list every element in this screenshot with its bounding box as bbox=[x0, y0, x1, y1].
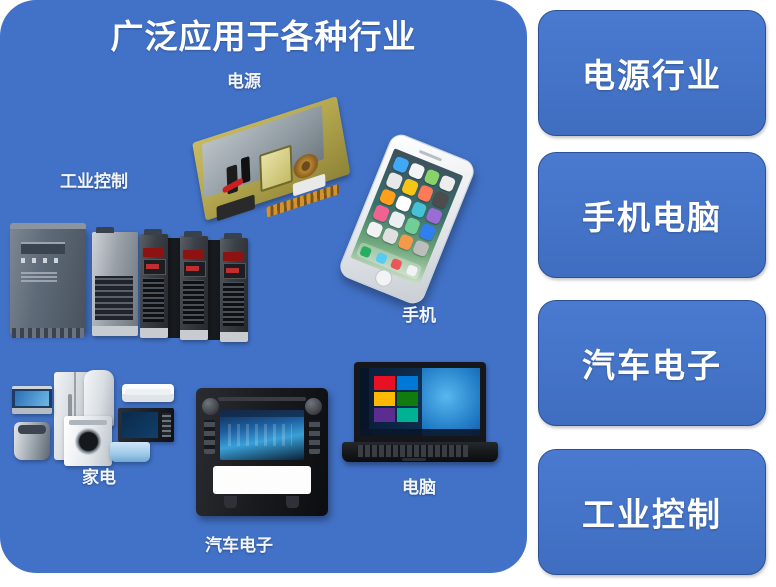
head-unit-knob-left bbox=[202, 398, 219, 415]
tile bbox=[397, 392, 418, 406]
pcb-black-component bbox=[216, 194, 255, 221]
app-icon bbox=[403, 217, 421, 236]
app-icon bbox=[432, 191, 450, 210]
head-unit-front-panel bbox=[213, 466, 311, 494]
drive-vent bbox=[95, 276, 133, 320]
cabinet-top bbox=[10, 223, 86, 229]
home-appliances-image bbox=[6, 368, 176, 468]
dock-icon bbox=[390, 257, 403, 270]
microwave-oven-icon bbox=[118, 408, 174, 442]
rice-cooker-icon bbox=[14, 422, 50, 460]
drive-base bbox=[180, 330, 208, 340]
category-card-power-industry[interactable]: 电源行业 bbox=[538, 10, 766, 136]
app-icon bbox=[407, 162, 425, 180]
app-icon bbox=[397, 233, 415, 251]
head-unit-buttons-right bbox=[309, 420, 320, 454]
drive-red-band bbox=[223, 252, 244, 261]
caption-power: 电源 bbox=[227, 72, 261, 92]
drive-base bbox=[140, 328, 168, 338]
small-laptop-icon bbox=[12, 386, 52, 414]
cabinet-terminal-block bbox=[12, 328, 84, 338]
drive-red-band bbox=[143, 248, 164, 257]
phone-screen bbox=[350, 148, 463, 285]
tile bbox=[374, 408, 395, 422]
drive-top-connector bbox=[144, 229, 162, 235]
head-unit-bracket bbox=[224, 496, 237, 508]
laptop-touchpad bbox=[402, 458, 426, 461]
caption-industrial: 工业控制 bbox=[60, 172, 128, 192]
app-icon bbox=[416, 184, 434, 203]
dock-icon bbox=[405, 264, 418, 277]
phone-app-grid bbox=[366, 156, 457, 258]
power-supply-pcb-image bbox=[181, 78, 370, 242]
app-icon bbox=[412, 239, 430, 257]
app-icon bbox=[379, 188, 397, 206]
app-icon bbox=[394, 194, 412, 212]
induction-cooktop-icon bbox=[110, 442, 150, 462]
drive-display bbox=[143, 259, 166, 275]
start-menu-tiles bbox=[374, 376, 418, 422]
drive-top-connector bbox=[224, 233, 242, 239]
servo-drive bbox=[92, 232, 138, 336]
servo-drive bbox=[180, 236, 208, 340]
laptop-computer-image bbox=[340, 362, 500, 470]
drive-gap bbox=[208, 240, 220, 340]
tile bbox=[397, 408, 418, 422]
head-unit-buttons-left bbox=[204, 420, 215, 454]
caption-phone: 手机 bbox=[402, 306, 436, 326]
app-icon bbox=[388, 210, 406, 229]
servo-drive bbox=[140, 234, 168, 338]
drive-gap bbox=[168, 238, 180, 338]
control-cabinet bbox=[10, 228, 86, 334]
laptop-lid bbox=[354, 362, 486, 444]
drive-base bbox=[92, 326, 138, 336]
pcb-board bbox=[192, 96, 350, 221]
head-unit-knob-right bbox=[305, 398, 322, 415]
windows-start-menu bbox=[360, 368, 422, 436]
drive-red-band bbox=[183, 250, 204, 259]
app-icon bbox=[401, 178, 419, 197]
drive-vent bbox=[223, 282, 244, 326]
caption-automotive: 汽车电子 bbox=[205, 536, 273, 556]
car-audio-head-unit-image bbox=[196, 388, 328, 516]
tile bbox=[397, 376, 418, 390]
app-icon bbox=[425, 207, 443, 225]
windows-taskbar bbox=[360, 429, 480, 436]
category-card-phone-computer[interactable]: 手机电脑 bbox=[538, 152, 766, 278]
app-icon bbox=[385, 172, 403, 191]
dock-icon bbox=[360, 245, 373, 258]
cabinet-display bbox=[21, 242, 65, 254]
start-menu-rail bbox=[360, 368, 369, 436]
drive-vent bbox=[183, 280, 204, 324]
caption-computer: 电脑 bbox=[402, 478, 436, 498]
servo-drive bbox=[220, 238, 248, 342]
app-icon bbox=[392, 156, 410, 174]
app-icon bbox=[381, 226, 399, 244]
laptop-base bbox=[342, 442, 498, 462]
page-title: 广泛应用于各种行业 bbox=[0, 16, 527, 58]
drive-top-connector bbox=[96, 227, 114, 233]
app-icon bbox=[438, 174, 456, 192]
cabinet-indicator-leds bbox=[21, 258, 65, 263]
dock-icon bbox=[375, 251, 388, 264]
app-icon bbox=[366, 220, 384, 238]
laptop-keyboard bbox=[358, 445, 468, 457]
caption-home-appliance: 家电 bbox=[82, 468, 116, 488]
drive-display bbox=[183, 261, 206, 277]
air-conditioner-icon bbox=[122, 384, 174, 402]
laptop-screen bbox=[360, 368, 480, 436]
applications-hero-panel: 广泛应用于各种行业 电源 bbox=[0, 0, 527, 573]
category-card-industrial-control[interactable]: 工业控制 bbox=[538, 449, 766, 575]
app-icon bbox=[410, 200, 428, 218]
app-icon bbox=[423, 168, 441, 186]
drive-vent bbox=[143, 278, 164, 322]
washing-machine-icon bbox=[64, 416, 112, 466]
tile bbox=[374, 376, 395, 390]
category-card-automotive-electronics[interactable]: 汽车电子 bbox=[538, 300, 766, 426]
head-unit-screen bbox=[220, 410, 304, 460]
drive-display bbox=[223, 263, 246, 279]
poster-canvas: 广泛应用于各种行业 电源 bbox=[0, 0, 776, 587]
head-unit-bracket bbox=[286, 496, 299, 508]
drive-top-connector bbox=[184, 231, 202, 237]
cabinet-label bbox=[21, 272, 57, 282]
tile bbox=[374, 392, 395, 406]
head-unit-disc-slot bbox=[218, 397, 306, 401]
drive-base bbox=[220, 332, 248, 342]
app-icon bbox=[419, 223, 437, 242]
app-icon bbox=[372, 204, 390, 223]
